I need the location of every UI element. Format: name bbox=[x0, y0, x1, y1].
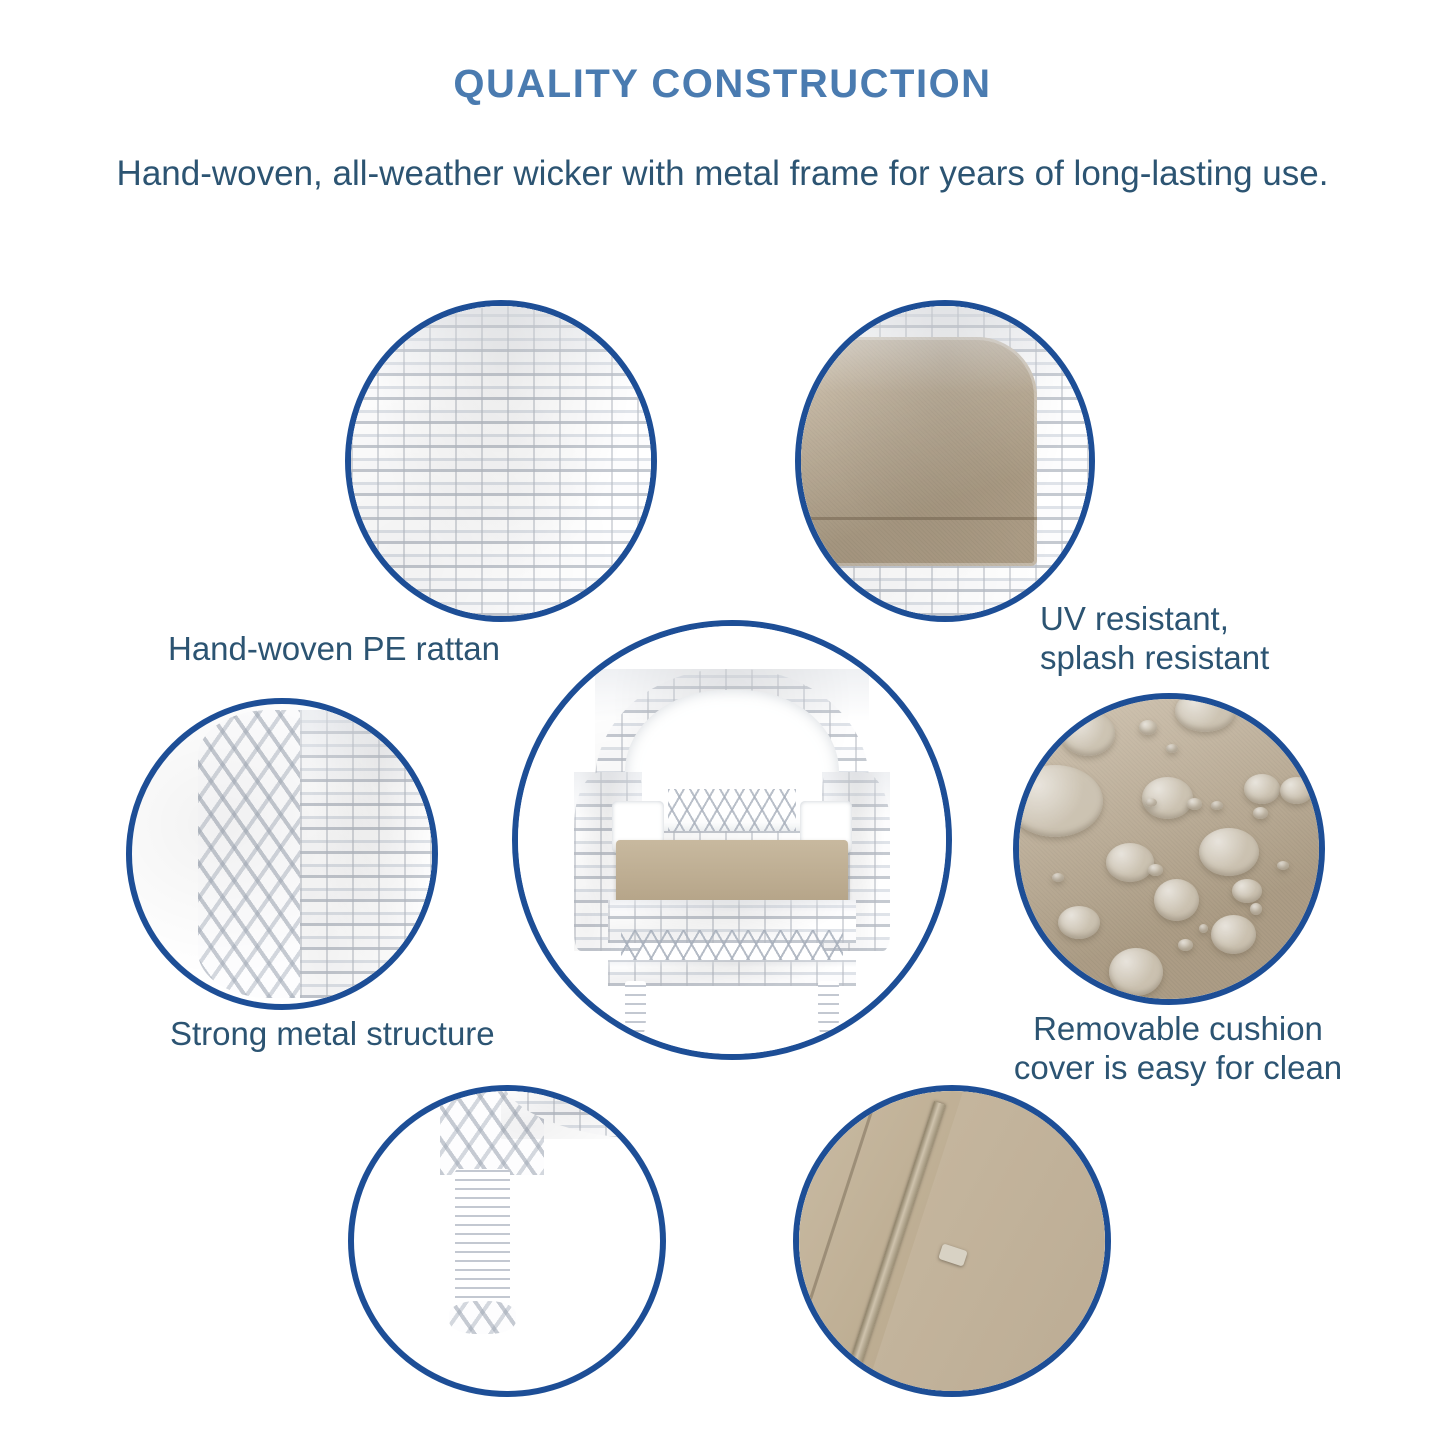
photo-full-chair bbox=[518, 626, 946, 1054]
water-droplet bbox=[1277, 861, 1289, 870]
water-droplet bbox=[1139, 720, 1157, 735]
feature-circle-removable-cushion-cover bbox=[1013, 693, 1325, 1005]
water-droplet bbox=[1199, 828, 1259, 876]
cushion-seam bbox=[795, 517, 1037, 520]
photo-uv-splash-resistant bbox=[801, 306, 1089, 616]
page-title: QUALITY CONSTRUCTION bbox=[0, 62, 1445, 106]
caption-removable-cushion-cover: Removable cushion cover is easy for clea… bbox=[1008, 1010, 1348, 1088]
feature-circle-strong-metal-structure bbox=[126, 698, 438, 1010]
leg-flare-weave bbox=[501, 1085, 666, 1139]
water-droplet bbox=[1280, 777, 1313, 804]
photo-strong-metal-structure bbox=[132, 704, 432, 1004]
water-droplet bbox=[1154, 879, 1199, 921]
chair-seat-cushion bbox=[616, 840, 847, 904]
water-droplet bbox=[1052, 873, 1064, 882]
armrest-shading bbox=[132, 704, 432, 1004]
photo-hand-woven-pe-rattan bbox=[351, 306, 651, 616]
water-droplet bbox=[1199, 924, 1208, 933]
chair-leg-left bbox=[625, 981, 646, 1041]
feature-circle-hand-woven-pe-rattan bbox=[345, 300, 657, 622]
feature-circle-cushion-zipper-detail bbox=[793, 1085, 1111, 1397]
chair-upper-lattice bbox=[668, 789, 796, 832]
water-droplet bbox=[1250, 903, 1262, 915]
chair-leg-right bbox=[818, 981, 839, 1041]
water-droplet bbox=[1211, 801, 1223, 810]
water-droplet bbox=[1058, 906, 1100, 939]
water-droplet bbox=[1013, 765, 1103, 837]
water-droplet bbox=[1178, 939, 1193, 951]
water-droplet bbox=[1253, 807, 1268, 819]
water-droplet bbox=[1244, 774, 1280, 804]
cushion-piping bbox=[795, 337, 1037, 566]
feature-circle-uv-splash-resistant bbox=[795, 300, 1095, 622]
cushion-scene bbox=[801, 306, 1089, 616]
photo-chair-leg-detail bbox=[354, 1091, 660, 1391]
feature-circle-chair-leg-detail bbox=[348, 1085, 666, 1397]
water-droplet bbox=[1175, 693, 1235, 732]
water-droplet bbox=[1106, 843, 1154, 882]
water-droplet bbox=[1211, 915, 1256, 954]
caption-uv-splash-resistant: UV resistant, splash resistant bbox=[1040, 600, 1370, 678]
water-droplet bbox=[1166, 744, 1178, 753]
page-subtitle: Hand-woven, all-weather wicker with meta… bbox=[0, 154, 1445, 194]
photo-removable-cushion-cover bbox=[1019, 699, 1319, 999]
center-circle-full-chair bbox=[512, 620, 952, 1060]
water-droplet bbox=[1187, 798, 1202, 810]
water-droplet bbox=[1232, 879, 1262, 903]
chair-illustration bbox=[518, 626, 946, 1054]
leg-cord-shaft bbox=[455, 1169, 510, 1307]
header: QUALITY CONSTRUCTION Hand-woven, all-wea… bbox=[0, 0, 1445, 194]
water-droplet bbox=[1061, 711, 1115, 756]
water-droplet bbox=[1109, 948, 1163, 996]
water-droplet bbox=[1145, 798, 1157, 807]
cushion-body bbox=[795, 337, 1037, 566]
water-droplet bbox=[1148, 864, 1163, 876]
photo-cushion-zipper-detail bbox=[799, 1091, 1105, 1391]
leg-woven-foot bbox=[449, 1301, 516, 1334]
